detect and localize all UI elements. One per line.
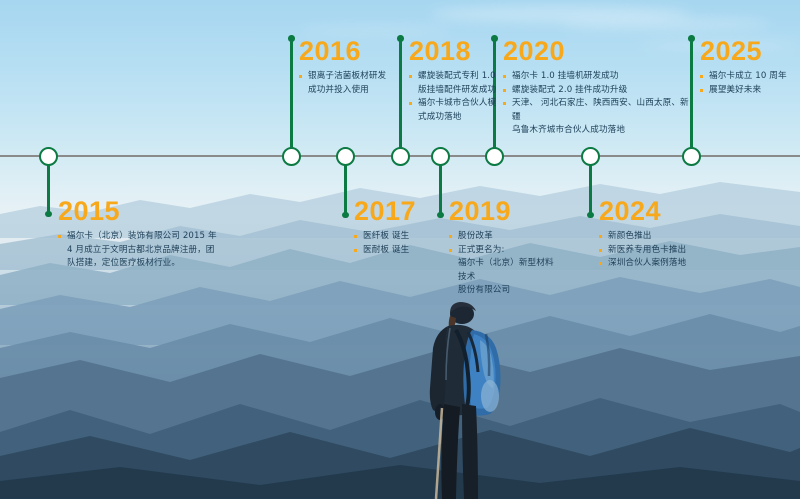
timeline-node-2020[interactable]: [485, 147, 504, 166]
milestone-year: 2019: [449, 196, 561, 226]
milestone-item: 成功并投入使用: [299, 84, 391, 98]
milestone-item: 队搭建，定位医疗板材行业。: [58, 257, 238, 271]
timeline-node-2017[interactable]: [336, 147, 355, 166]
cloud-wisp: [300, 26, 450, 35]
timeline-node-2025[interactable]: [682, 147, 701, 166]
milestone-2016[interactable]: 2016 银离子洁菌板材研发 成功并投入使用: [299, 36, 391, 97]
milestone-items: 螺旋装配式专利 1.0 版挂墙配件研发成功 福尔卡城市合伙人模 式成功落地: [409, 70, 505, 124]
stem-2025: [690, 38, 693, 148]
milestone-item: 深圳合伙人案例落地: [599, 257, 719, 271]
stem-dot: [587, 212, 594, 219]
stem-dot: [45, 211, 52, 218]
milestone-item: 螺旋装配式 2.0 挂件成功升级: [503, 84, 689, 98]
milestone-items: 新颜色推出 新医养专用色卡推出 深圳合伙人案例落地: [599, 230, 719, 271]
timeline-node-2018[interactable]: [391, 147, 410, 166]
milestone-item: 股份有限公司: [449, 284, 561, 298]
milestone-item: 医耐板 诞生: [354, 244, 454, 258]
milestone-item: 螺旋装配式专利 1.0: [409, 70, 505, 84]
milestone-item: 福尔卡（北京）装饰有限公司 2015 年: [58, 230, 238, 244]
milestone-items: 股份改革 正式更名为: 福尔卡（北京）新型材料技术 股份有限公司: [449, 230, 561, 298]
timeline-node-2024[interactable]: [581, 147, 600, 166]
milestone-item: 展望美好未来: [700, 84, 796, 98]
stem-dot: [397, 35, 404, 42]
milestone-item: 银离子洁菌板材研发: [299, 70, 391, 84]
milestone-2015[interactable]: 2015 福尔卡（北京）装饰有限公司 2015 年 4 月成立于文明古都北京品牌…: [58, 196, 238, 271]
milestone-item: 版挂墙配件研发成功: [409, 84, 505, 98]
milestone-item: 正式更名为:: [449, 244, 561, 258]
milestone-item: 新医养专用色卡推出: [599, 244, 719, 258]
milestone-year: 2015: [58, 196, 238, 226]
timeline-infographic: 2015 福尔卡（北京）装饰有限公司 2015 年 4 月成立于文明古都北京品牌…: [0, 0, 800, 499]
milestone-2024[interactable]: 2024 新颜色推出 新医养专用色卡推出 深圳合伙人案例落地: [599, 196, 719, 271]
milestone-items: 银离子洁菌板材研发 成功并投入使用: [299, 70, 391, 97]
milestone-item: 股份改革: [449, 230, 561, 244]
milestone-2020[interactable]: 2020 福尔卡 1.0 挂墙机研发成功 螺旋装配式 2.0 挂件成功升级 天津…: [503, 36, 689, 138]
hiker-silhouette: [400, 300, 540, 499]
milestone-2025[interactable]: 2025 福尔卡成立 10 周年 展望美好未来: [700, 36, 796, 97]
milestone-year: 2016: [299, 36, 391, 66]
milestone-item: 4 月成立于文明古都北京品牌注册，团: [58, 244, 238, 258]
milestone-year: 2024: [599, 196, 719, 226]
milestone-item: 乌鲁木齐城市合伙人成功落地: [503, 124, 689, 138]
milestone-2018[interactable]: 2018 螺旋装配式专利 1.0 版挂墙配件研发成功 福尔卡城市合伙人模 式成功…: [409, 36, 505, 124]
milestone-items: 福尔卡（北京）装饰有限公司 2015 年 4 月成立于文明古都北京品牌注册，团 …: [58, 230, 238, 271]
milestone-item: 式成功落地: [409, 111, 505, 125]
milestone-items: 福尔卡成立 10 周年 展望美好未来: [700, 70, 796, 97]
milestone-item: 福尔卡成立 10 周年: [700, 70, 796, 84]
milestone-year: 2017: [354, 196, 454, 226]
milestone-year: 2020: [503, 36, 689, 66]
milestone-2019[interactable]: 2019 股份改革 正式更名为: 福尔卡（北京）新型材料技术 股份有限公司: [449, 196, 561, 298]
milestone-item: 医纤板 诞生: [354, 230, 454, 244]
milestone-item: 福尔卡（北京）新型材料技术: [449, 257, 561, 284]
milestone-item: 福尔卡城市合伙人模: [409, 97, 505, 111]
cloud-wisp: [560, 18, 770, 30]
stem-2018: [399, 38, 402, 148]
milestone-items: 医纤板 诞生 医耐板 诞生: [354, 230, 454, 257]
stem-dot: [288, 35, 295, 42]
timeline-node-2016[interactable]: [282, 147, 301, 166]
milestone-item: 新颜色推出: [599, 230, 719, 244]
timeline-node-2015[interactable]: [39, 147, 58, 166]
milestone-item: 天津、 河北石家庄、陕西西安、山西太原、新疆: [503, 97, 689, 124]
timeline-node-2019[interactable]: [431, 147, 450, 166]
stem-2016: [290, 38, 293, 148]
milestone-items: 福尔卡 1.0 挂墙机研发成功 螺旋装配式 2.0 挂件成功升级 天津、 河北石…: [503, 70, 689, 138]
milestone-year: 2018: [409, 36, 505, 66]
stem-dot: [342, 212, 349, 219]
milestone-year: 2025: [700, 36, 796, 66]
milestone-2017[interactable]: 2017 医纤板 诞生 医耐板 诞生: [354, 196, 454, 257]
milestone-item: 福尔卡 1.0 挂墙机研发成功: [503, 70, 689, 84]
